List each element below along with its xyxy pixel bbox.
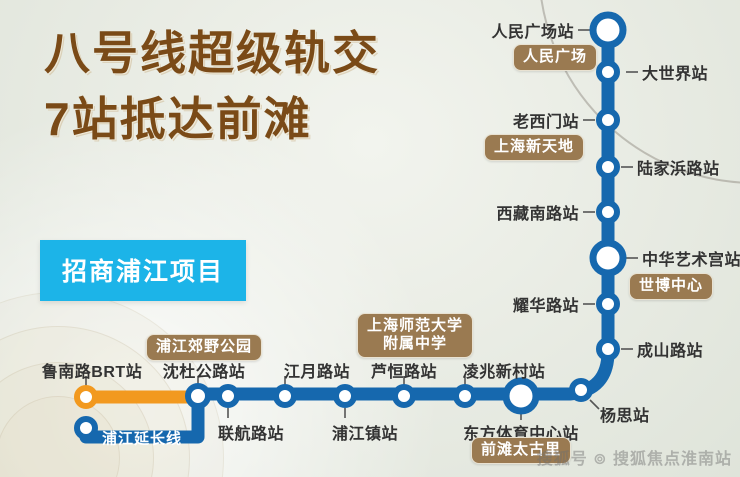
station-marker-yangsi[interactable] — [572, 381, 590, 399]
landmark-tag-shishida-line2: 附属中学 — [383, 335, 447, 352]
station-marker-lianhang-lu[interactable] — [219, 387, 237, 405]
station-marker-zhonghua-yishugong[interactable] — [593, 243, 623, 273]
landmark-tag-pujiang-jiaoye-gongyuan[interactable]: 浦江郊野公园 — [146, 334, 262, 361]
station-marker-luheng-lu[interactable] — [395, 387, 413, 405]
headline-line-2: 7站抵达前滩 — [44, 94, 380, 146]
station-marker-dongfang-tiyu-zhongxin[interactable] — [506, 381, 536, 411]
station-label-chengshan-lu[interactable]: 成山路站 — [637, 337, 703, 361]
station-marker-yaohua-lu[interactable] — [599, 295, 617, 313]
station-label-luheng-lu[interactable]: 芦恒路站 — [371, 358, 437, 382]
station-marker-jiangyue-lu[interactable] — [276, 387, 294, 405]
station-marker-pujiang-ext-terminus[interactable] — [77, 419, 95, 437]
station-marker-lujiabang-lu[interactable] — [599, 158, 617, 176]
station-label-zhonghua-yishugong[interactable]: 中华艺术宫站 — [642, 246, 740, 270]
station-label-shendu-gonglu[interactable]: 沈杜公路站 — [163, 358, 246, 382]
project-badge[interactable]: 招商浦江项目 — [40, 240, 246, 301]
station-label-pujiangzhen[interactable]: 浦江镇站 — [332, 420, 398, 444]
pujiang-extension-line-label[interactable]: 浦江延长线 — [102, 428, 182, 449]
landmark-tag-renmin-guangchang[interactable]: 人民广场 — [513, 44, 597, 71]
station-label-lingzhao-xincun[interactable]: 凌兆新村站 — [463, 358, 546, 382]
station-label-xizang-nanlu[interactable]: 西藏南路站 — [496, 200, 579, 224]
landmark-tag-shishida-fuzhong[interactable]: 上海师范大学 附属中学 — [357, 313, 473, 358]
station-marker-xizang-nanlu[interactable] — [599, 203, 617, 221]
station-label-yaohua-lu[interactable]: 耀华路站 — [513, 292, 579, 316]
station-label-dashijie[interactable]: 大世界站 — [642, 60, 708, 84]
station-label-lunan-lu-brt[interactable]: 鲁南路BRT站 — [42, 358, 142, 382]
station-label-laoximen[interactable]: 老西门站 — [513, 108, 579, 132]
landmark-tag-shishida-line1: 上海师范大学 — [367, 317, 463, 334]
station-label-yangsi[interactable]: 杨思站 — [600, 402, 650, 426]
headline-block: 八号线超级轨交 7站抵达前滩 — [44, 28, 380, 145]
station-marker-laoximen[interactable] — [599, 111, 617, 129]
station-marker-dashijie[interactable] — [599, 63, 617, 81]
headline-line-1: 八号线超级轨交 — [44, 28, 380, 80]
landmark-tag-xintiandi[interactable]: 上海新天地 — [484, 134, 584, 161]
station-label-lianhang-lu[interactable]: 联航路站 — [218, 420, 284, 444]
station-label-jiangyue-lu[interactable]: 江月路站 — [284, 358, 350, 382]
station-marker-pujiangzhen[interactable] — [336, 387, 354, 405]
station-marker-lingzhao-xincun[interactable] — [456, 387, 474, 405]
station-marker-chengshan-lu[interactable] — [599, 340, 617, 358]
landmark-tag-shibo-zhongxin[interactable]: 世博中心 — [629, 273, 713, 300]
station-marker-renmin-guangchang[interactable] — [593, 15, 623, 45]
station-label-renmin-guangchang[interactable]: 人民广场站 — [491, 18, 574, 42]
station-marker-shendu-gonglu[interactable] — [188, 386, 208, 406]
watermark: 搜狐号 ⊚ 搜狐焦点淮南站 — [537, 445, 732, 469]
station-label-lujiabang-lu[interactable]: 陆家浜路站 — [637, 155, 720, 179]
infographic-root: 八号线超级轨交 7站抵达前滩 招商浦江项目 — [0, 0, 740, 477]
station-marker-lunan-lu-brt[interactable] — [77, 388, 95, 406]
